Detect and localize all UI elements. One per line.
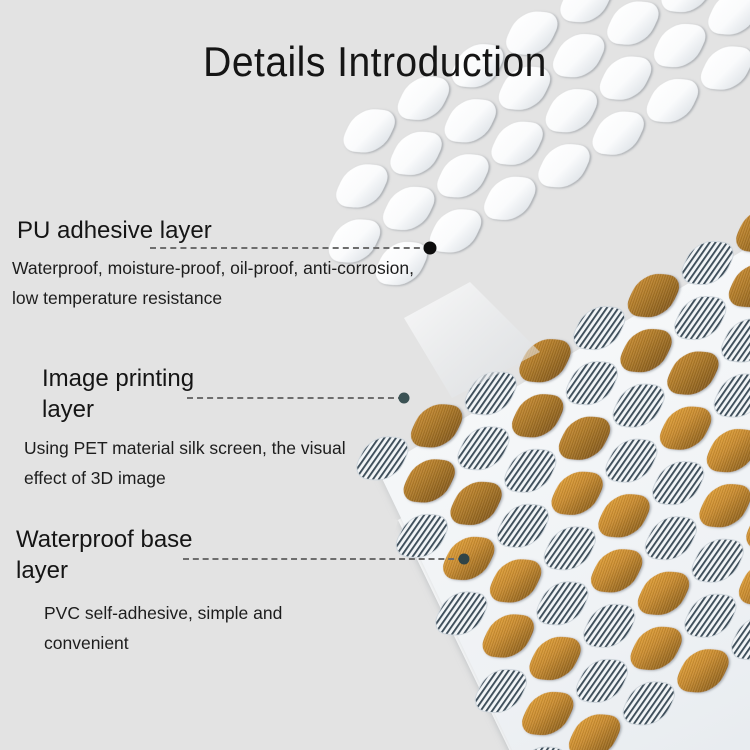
- annotation-heading-pu-adhesive-layer: PU adhesive layer: [17, 215, 414, 246]
- leader-dot-image-printing-layer: [399, 393, 410, 404]
- leader-dot-waterproof-base-layer: [459, 554, 470, 565]
- annotation-description-pu-adhesive-layer: Waterproof, moisture-proof, oil-proof, a…: [12, 253, 414, 313]
- annotation-heading-waterproof-base-layer: Waterproof base layer: [16, 524, 282, 586]
- infographic-canvas: Details Introduction PU adhesive layer W…: [0, 0, 750, 750]
- annotation-heading-image-printing-layer: Image printing layer: [42, 363, 346, 425]
- annotation-description-waterproof-base-layer: PVC self-adhesive, simple and convenient: [44, 598, 282, 658]
- annotation-pu-adhesive-layer: PU adhesive layer Waterproof, moisture-p…: [17, 215, 414, 313]
- annotation-image-printing-layer: Image printing layer Using PET material …: [42, 363, 346, 493]
- annotation-description-image-printing-layer: Using PET material silk screen, the visu…: [24, 433, 346, 493]
- leader-dot-pu-adhesive-layer: [424, 242, 437, 255]
- annotation-waterproof-base-layer: Waterproof base layer PVC self-adhesive,…: [16, 524, 282, 658]
- page-title: Details Introduction: [26, 36, 724, 88]
